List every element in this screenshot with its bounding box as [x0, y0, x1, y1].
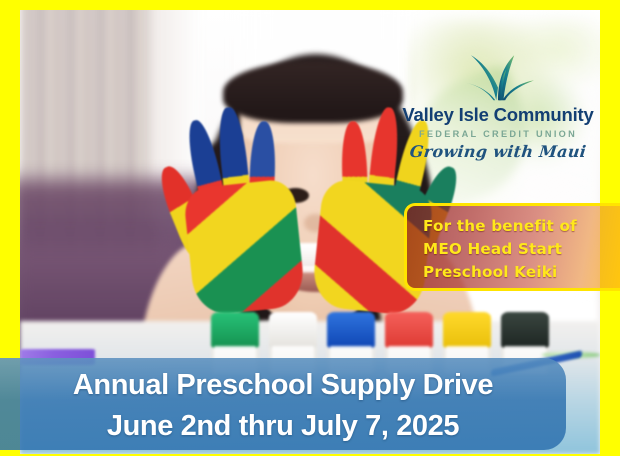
logo-brand-name: Valley Isle Community [398, 106, 598, 125]
benefit-line-3: Preschool Keiki [423, 261, 620, 284]
palm-left [182, 178, 306, 317]
banner-title: Annual Preschool Supply Drive [0, 358, 566, 400]
plant-leaf-mark-icon [444, 48, 552, 102]
logo-tagline: Growing with Maui [397, 144, 599, 160]
frame-left [0, 0, 20, 358]
painted-hand-left [157, 97, 318, 323]
flyer-poster: Valley Isle Community FEDERAL CREDIT UNI… [0, 0, 620, 456]
benefit-line-2: MEO Head Start [423, 238, 620, 261]
banner-subtitle: June 2nd thru July 7, 2025 [0, 400, 566, 441]
logo-subtitle: FEDERAL CREDIT UNION [398, 130, 598, 139]
frame-top [0, 0, 620, 10]
benefit-line-1: For the benefit of [423, 215, 620, 238]
benefit-callout-box: For the benefit of MEO Head Start Presch… [404, 203, 620, 291]
event-banner: Annual Preschool Supply Drive June 2nd t… [0, 358, 566, 450]
credit-union-logo: Valley Isle Community FEDERAL CREDIT UNI… [398, 48, 598, 160]
